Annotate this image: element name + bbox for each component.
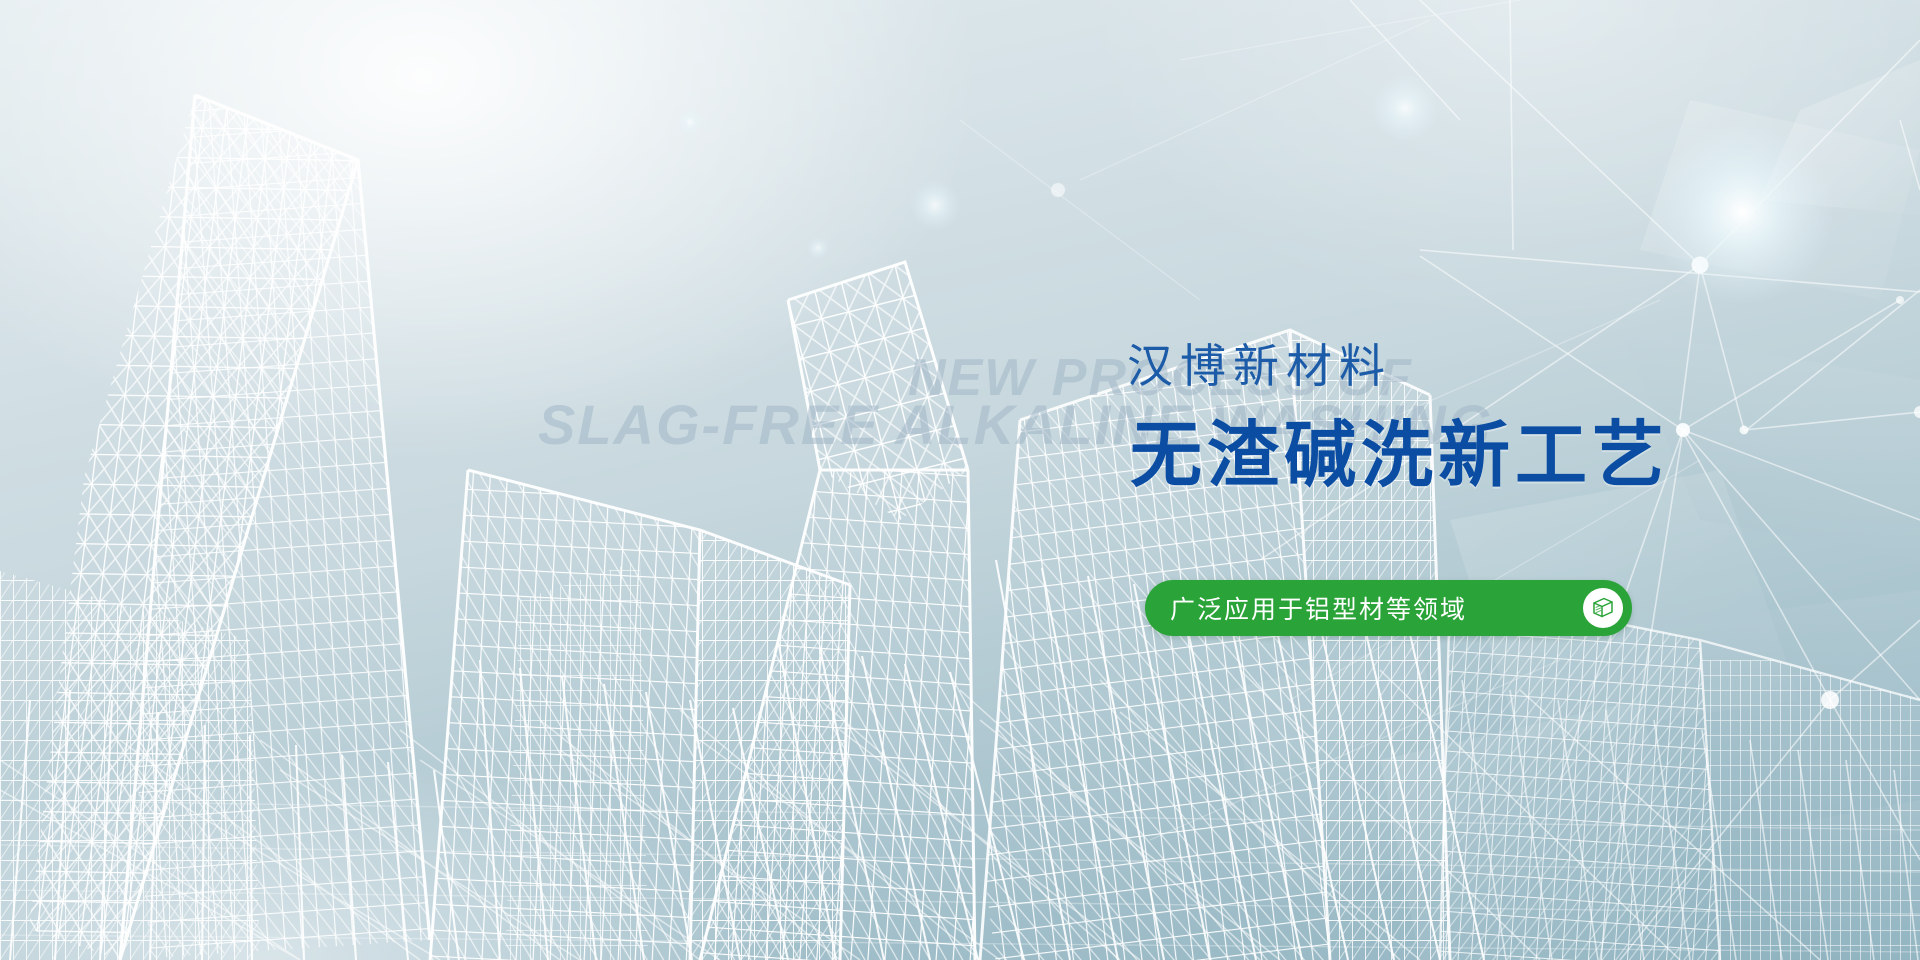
application-badge[interactable]: 广泛应用于铝型材等领域 — [1145, 580, 1632, 636]
application-badge-label: 广泛应用于铝型材等领域 — [1170, 590, 1467, 626]
hero-banner: NEW PROCESS OF SLAG-FREE ALKALINE WASHIN… — [0, 0, 1920, 960]
aluminum-profile-cube-icon — [1583, 588, 1623, 628]
bottom-haze — [0, 0, 1920, 960]
